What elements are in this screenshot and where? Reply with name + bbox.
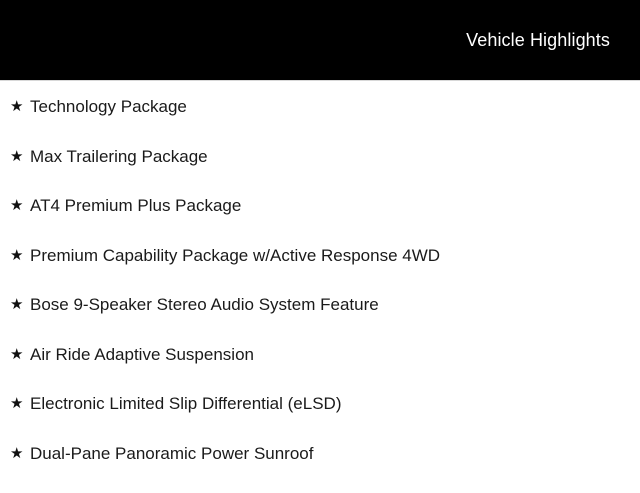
star-icon: ★ bbox=[10, 345, 30, 365]
highlight-label: Technology Package bbox=[30, 97, 640, 117]
star-icon: ★ bbox=[10, 97, 30, 117]
list-item: ★Premium Capability Package w/Active Res… bbox=[0, 246, 640, 296]
vehicle-highlights-page: Vehicle Highlights ★Technology Package★M… bbox=[0, 0, 640, 480]
list-item: ★AT4 Premium Plus Package bbox=[0, 196, 640, 246]
highlight-label: Dual-Pane Panoramic Power Sunroof bbox=[30, 444, 640, 464]
list-item: ★Electronic Limited Slip Differential (e… bbox=[0, 394, 640, 444]
highlight-label: Max Trailering Package bbox=[30, 147, 640, 167]
list-item: ★Technology Package bbox=[0, 81, 640, 147]
star-icon: ★ bbox=[10, 246, 30, 266]
list-item: ★Max Trailering Package bbox=[0, 147, 640, 197]
list-item: ★Dual-Pane Panoramic Power Sunroof bbox=[0, 444, 640, 493]
page-title: Vehicle Highlights bbox=[466, 31, 610, 49]
star-icon: ★ bbox=[10, 147, 30, 167]
highlight-label: AT4 Premium Plus Package bbox=[30, 196, 640, 216]
highlight-label: Bose 9-Speaker Stereo Audio System Featu… bbox=[30, 295, 640, 315]
list-item: ★Air Ride Adaptive Suspension bbox=[0, 345, 640, 395]
highlight-label: Electronic Limited Slip Differential (eL… bbox=[30, 394, 640, 414]
star-icon: ★ bbox=[10, 295, 30, 315]
highlight-label: Premium Capability Package w/Active Resp… bbox=[30, 246, 640, 266]
star-icon: ★ bbox=[10, 444, 30, 464]
star-icon: ★ bbox=[10, 196, 30, 216]
star-icon: ★ bbox=[10, 394, 30, 414]
list-item: ★Bose 9-Speaker Stereo Audio System Feat… bbox=[0, 295, 640, 345]
page-header: Vehicle Highlights bbox=[0, 0, 640, 80]
highlight-label: Air Ride Adaptive Suspension bbox=[30, 345, 640, 365]
vehicle-highlights-list: ★Technology Package★Max Trailering Packa… bbox=[0, 81, 640, 493]
